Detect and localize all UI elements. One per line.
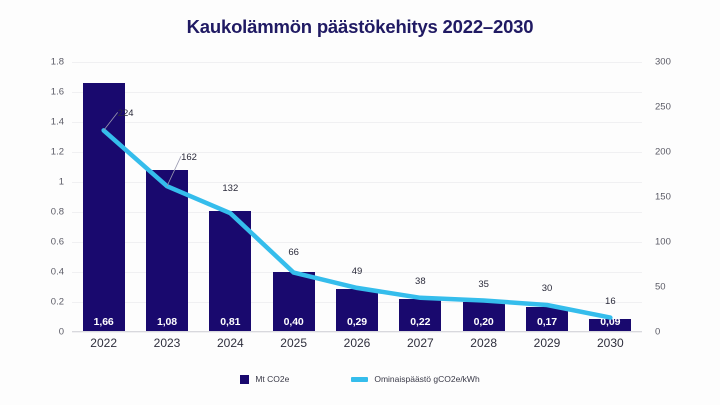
line-value-label: 162 bbox=[181, 152, 197, 163]
y-axis-right-tick: 100 bbox=[655, 237, 671, 248]
bar-value-label: 0,40 bbox=[273, 316, 315, 328]
y-axis-left-tick: 1.4 bbox=[51, 117, 64, 128]
legend-item-bar[interactable]: Mt CO2e bbox=[240, 374, 289, 384]
y-axis-left-tick: 0.4 bbox=[51, 267, 64, 278]
x-axis-tick: 2024 bbox=[217, 336, 244, 350]
y-axis-right-tick: 250 bbox=[655, 102, 671, 113]
chart-page: Kaukolämmön päästökehitys 2022–2030 00.2… bbox=[0, 0, 720, 405]
y-axis-left-tick: 0 bbox=[59, 327, 64, 338]
x-axis-tick: 2030 bbox=[597, 336, 624, 350]
bar[interactable]: 0,17 bbox=[526, 307, 568, 333]
x-axis-tick: 2022 bbox=[90, 336, 117, 350]
y-axis-left-tick: 1.6 bbox=[51, 87, 64, 98]
bar[interactable]: 0,22 bbox=[399, 299, 441, 332]
plot-area: 1,661,080,810,400,290,220,200,170,09 224… bbox=[72, 62, 642, 332]
gridline bbox=[72, 62, 642, 63]
line-value-label: 132 bbox=[222, 183, 238, 194]
x-axis-baseline bbox=[72, 331, 642, 332]
line-value-label: 66 bbox=[288, 247, 299, 258]
line-value-label: 30 bbox=[542, 283, 553, 294]
y-axis-right-tick: 50 bbox=[655, 282, 666, 293]
x-axis-tick: 2027 bbox=[407, 336, 434, 350]
bar-value-label: 1,66 bbox=[83, 316, 125, 328]
line-value-label: 38 bbox=[415, 276, 426, 287]
bar-value-label: 0,20 bbox=[463, 316, 505, 328]
bar[interactable]: 0,09 bbox=[589, 319, 631, 333]
bar[interactable]: 0,81 bbox=[209, 211, 251, 333]
bar[interactable]: 0,29 bbox=[336, 289, 378, 333]
y-axis-right-tick: 200 bbox=[655, 147, 671, 158]
bar-value-label: 0,22 bbox=[399, 316, 441, 328]
gridline bbox=[72, 152, 642, 153]
legend-item-line[interactable]: Ominaispäästö gCO2e/kWh bbox=[351, 374, 479, 384]
line-value-label: 16 bbox=[605, 296, 616, 307]
square-swatch-icon bbox=[240, 375, 249, 384]
x-axis-tick: 2025 bbox=[280, 336, 307, 350]
bar[interactable]: 0,40 bbox=[273, 272, 315, 332]
x-axis-tick: 2023 bbox=[154, 336, 181, 350]
line-value-label: 224 bbox=[118, 108, 134, 119]
y-axis-right: 050100150200250300 bbox=[642, 62, 720, 332]
bar-value-label: 0,29 bbox=[336, 316, 378, 328]
line-value-label: 49 bbox=[352, 266, 363, 277]
bar[interactable]: 1,66 bbox=[83, 83, 125, 332]
gridline bbox=[72, 122, 642, 123]
bar-value-label: 0,09 bbox=[589, 316, 631, 328]
line-swatch-icon bbox=[351, 377, 368, 382]
legend-item-label: Ominaispäästö gCO2e/kWh bbox=[374, 374, 479, 384]
x-axis-tick: 2026 bbox=[344, 336, 371, 350]
bar-value-label: 0,17 bbox=[526, 316, 568, 328]
line-value-label: 35 bbox=[478, 279, 489, 290]
legend-item-label: Mt CO2e bbox=[255, 374, 289, 384]
y-axis-right-tick: 150 bbox=[655, 192, 671, 203]
y-axis-right-tick: 0 bbox=[655, 327, 660, 338]
bar-value-label: 0,81 bbox=[209, 316, 251, 328]
y-axis-left-tick: 1 bbox=[59, 177, 64, 188]
legend: Mt CO2e Ominaispäästö gCO2e/kWh bbox=[0, 374, 720, 384]
bar[interactable]: 0,20 bbox=[463, 302, 505, 332]
bar-value-label: 1,08 bbox=[146, 316, 188, 328]
y-axis-left-tick: 1.2 bbox=[51, 147, 64, 158]
y-axis-left-tick: 1.8 bbox=[51, 57, 64, 68]
y-axis-left: 00.20.40.60.811.21.41.61.8 bbox=[0, 62, 72, 332]
x-axis-tick: 2029 bbox=[534, 336, 561, 350]
y-axis-left-tick: 0.2 bbox=[51, 297, 64, 308]
gridline bbox=[72, 332, 642, 333]
x-axis: 202220232024202520262027202820292030 bbox=[72, 336, 642, 358]
y-axis-left-tick: 0.8 bbox=[51, 207, 64, 218]
y-axis-right-tick: 300 bbox=[655, 57, 671, 68]
page-title: Kaukolämmön päästökehitys 2022–2030 bbox=[0, 16, 720, 38]
y-axis-left-tick: 0.6 bbox=[51, 237, 64, 248]
gridline bbox=[72, 92, 642, 93]
x-axis-tick: 2028 bbox=[470, 336, 497, 350]
bar[interactable]: 1,08 bbox=[146, 170, 188, 332]
